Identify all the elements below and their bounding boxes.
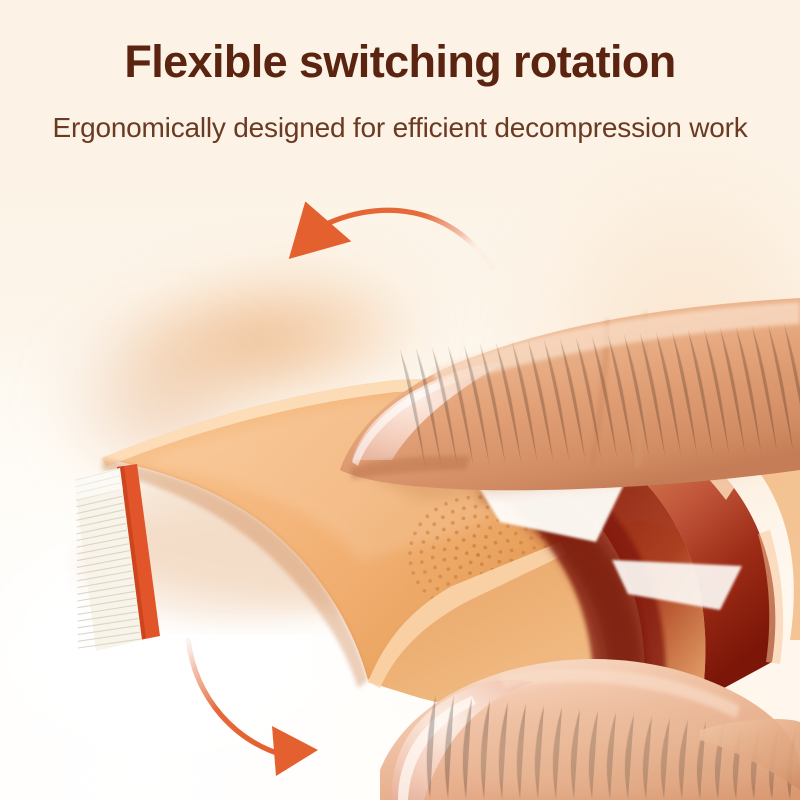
product-photo (0, 170, 800, 800)
page-subtitle: Ergonomically designed for efficient dec… (0, 112, 800, 144)
page-title: Flexible switching rotation (0, 36, 800, 88)
promo-image-root: Flexible switching rotation Ergonomicall… (0, 0, 800, 800)
index-finger (340, 298, 800, 500)
product-illustration (0, 170, 800, 800)
